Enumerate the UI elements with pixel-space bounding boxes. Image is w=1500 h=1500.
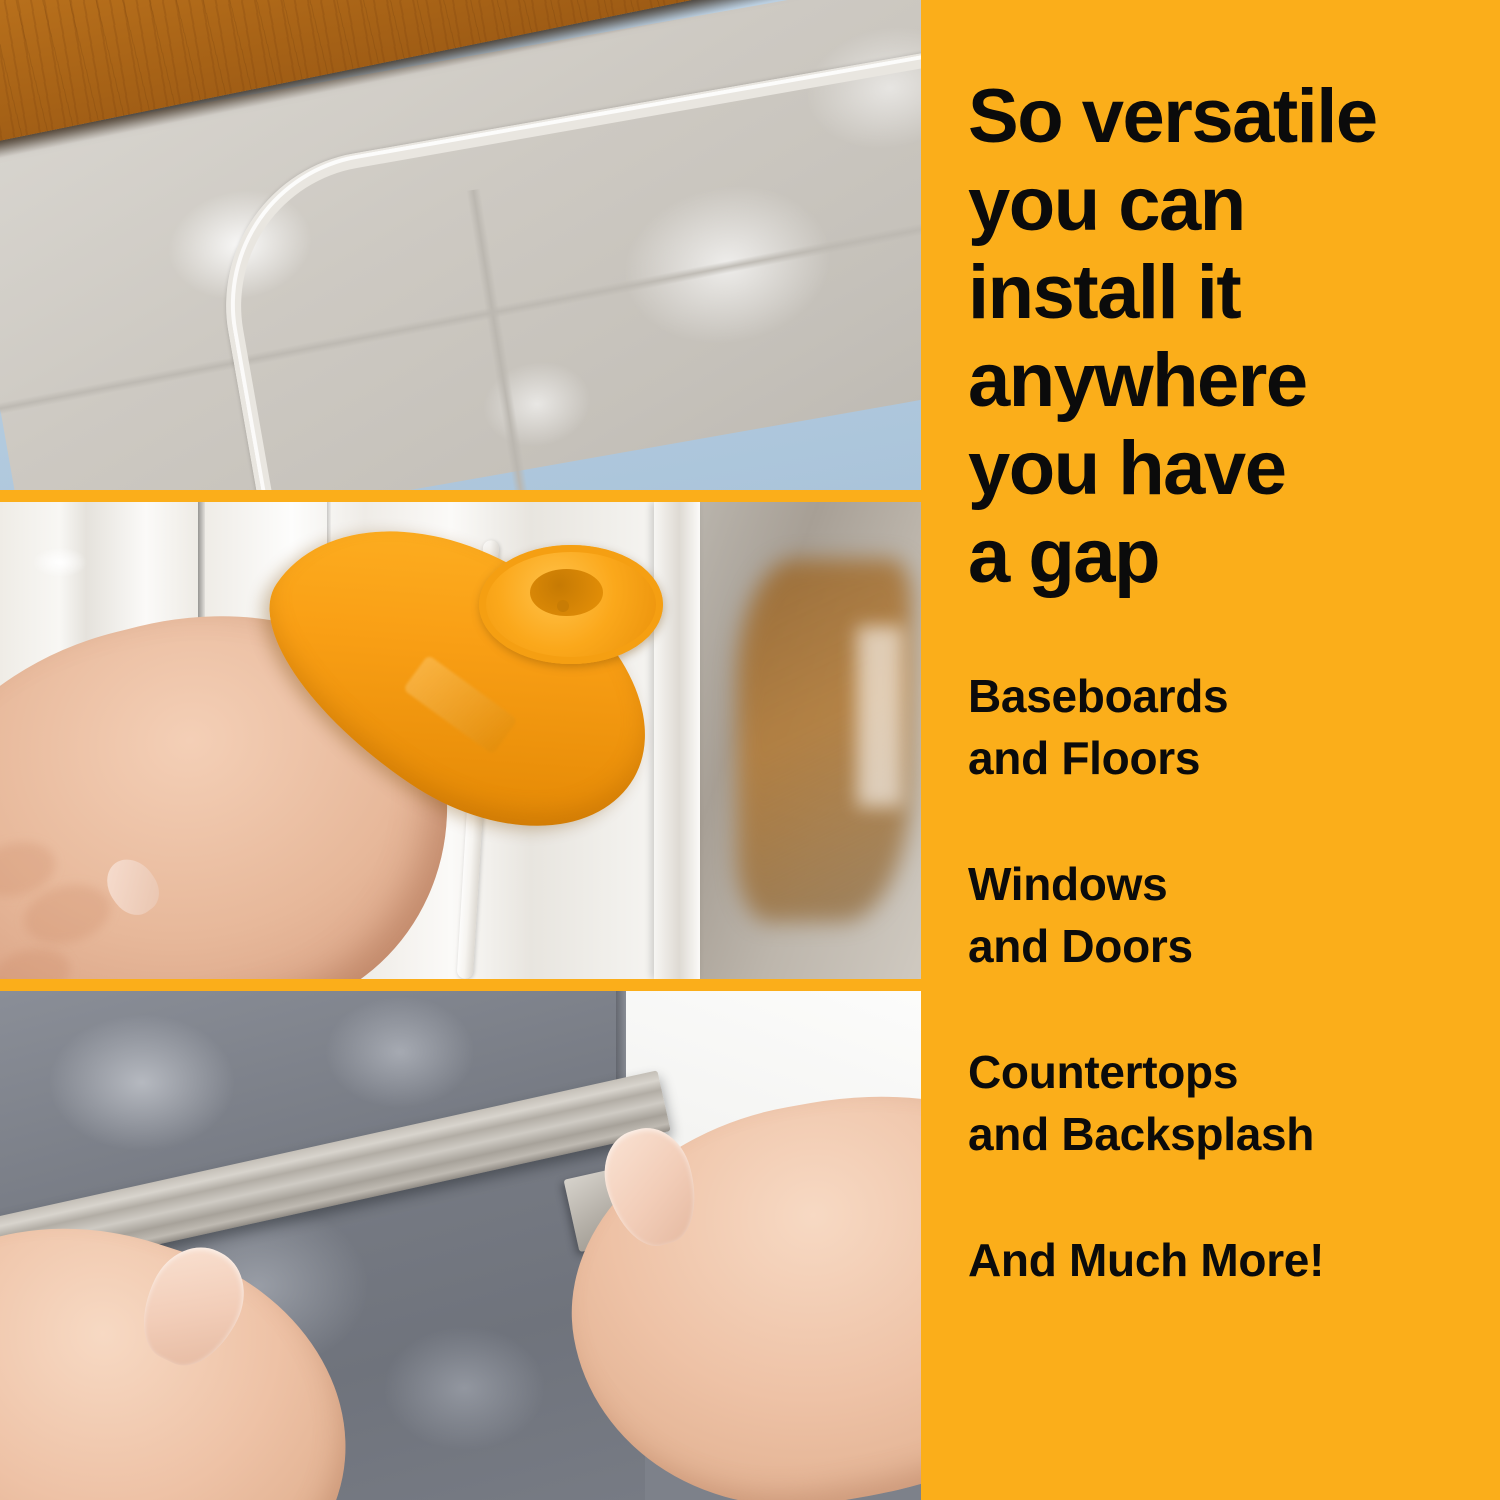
feature-item-baseboards-and-floors: Baseboards and Floors	[968, 665, 1488, 789]
countertop-scene	[0, 991, 921, 1500]
product-feature-poster: So versatile you can install it anywhere…	[0, 0, 1500, 1500]
headline: So versatile you can install it anywhere…	[968, 73, 1483, 601]
feature-item-countertops-and-backsplash: Countertops and Backsplash	[968, 1041, 1488, 1165]
photo-window-tool	[0, 502, 921, 979]
panel-divider	[0, 490, 921, 502]
tool-vent-dot	[557, 600, 569, 612]
text-column: So versatile you can install it anywhere…	[921, 0, 1500, 1500]
knuckle	[0, 941, 76, 979]
panel-divider	[0, 979, 921, 991]
window-scene	[0, 502, 921, 979]
feature-item-windows-and-doors: Windows and Doors	[968, 853, 1488, 977]
feature-item-and-much-more: And Much More!	[968, 1229, 1488, 1291]
feature-list: Baseboards and Floors Windows and Doors …	[968, 665, 1488, 1291]
photo-countertop-backsplash	[0, 991, 921, 1500]
glass-highlight	[857, 626, 903, 807]
photo-baseboard-tile	[0, 0, 921, 490]
baseboard-scene	[0, 0, 921, 490]
photo-column	[0, 0, 921, 1500]
window-sash	[654, 502, 700, 979]
